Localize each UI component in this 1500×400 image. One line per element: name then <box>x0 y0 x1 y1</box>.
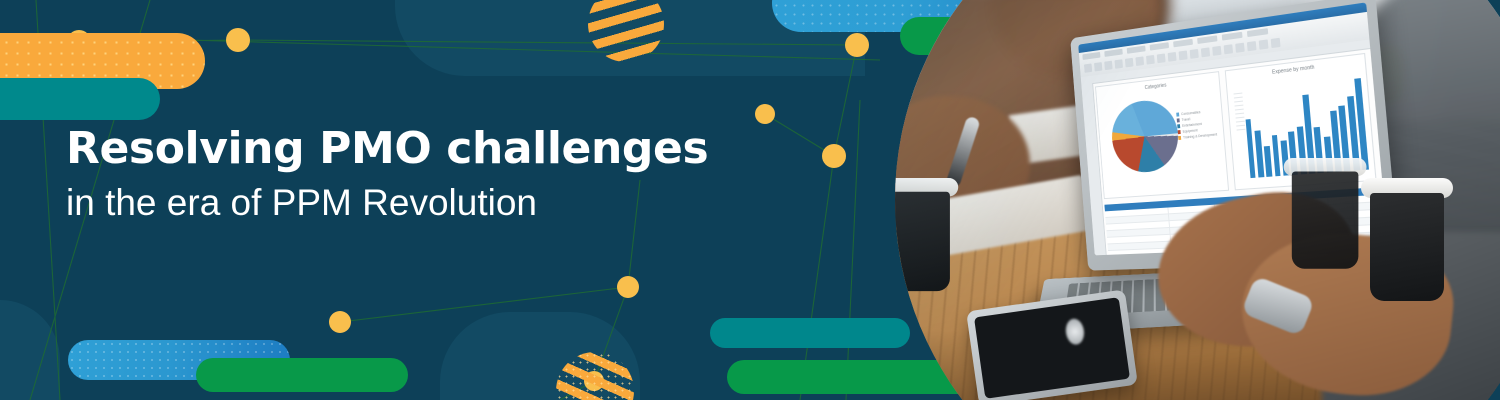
pie-chart-card: Categories ConsumablesTravelEntertainmen… <box>1095 71 1229 199</box>
promo-banner: Resolving PMO challenges in the era of P… <box>0 0 1500 400</box>
teal-pill-top <box>0 78 160 120</box>
teal-pill-bottom <box>710 318 910 348</box>
page-title: Resolving PMO challenges <box>66 126 886 172</box>
headline-block: Resolving PMO challenges in the era of P… <box>66 126 886 224</box>
office-laptop-photo: Categories ConsumablesTravelEntertainmen… <box>890 0 1500 400</box>
cup-body <box>1292 172 1359 269</box>
pie-chart <box>1102 89 1189 183</box>
green-pill-bottom-left <box>196 358 408 392</box>
page-subtitle: in the era of PPM Revolution <box>66 182 886 223</box>
pie-chart-legend: ConsumablesTravelEntertainmentEquipmentT… <box>1176 109 1217 140</box>
phone-screen <box>974 297 1130 399</box>
striped-circle-bottom <box>556 352 634 400</box>
cup-body <box>1370 193 1444 301</box>
